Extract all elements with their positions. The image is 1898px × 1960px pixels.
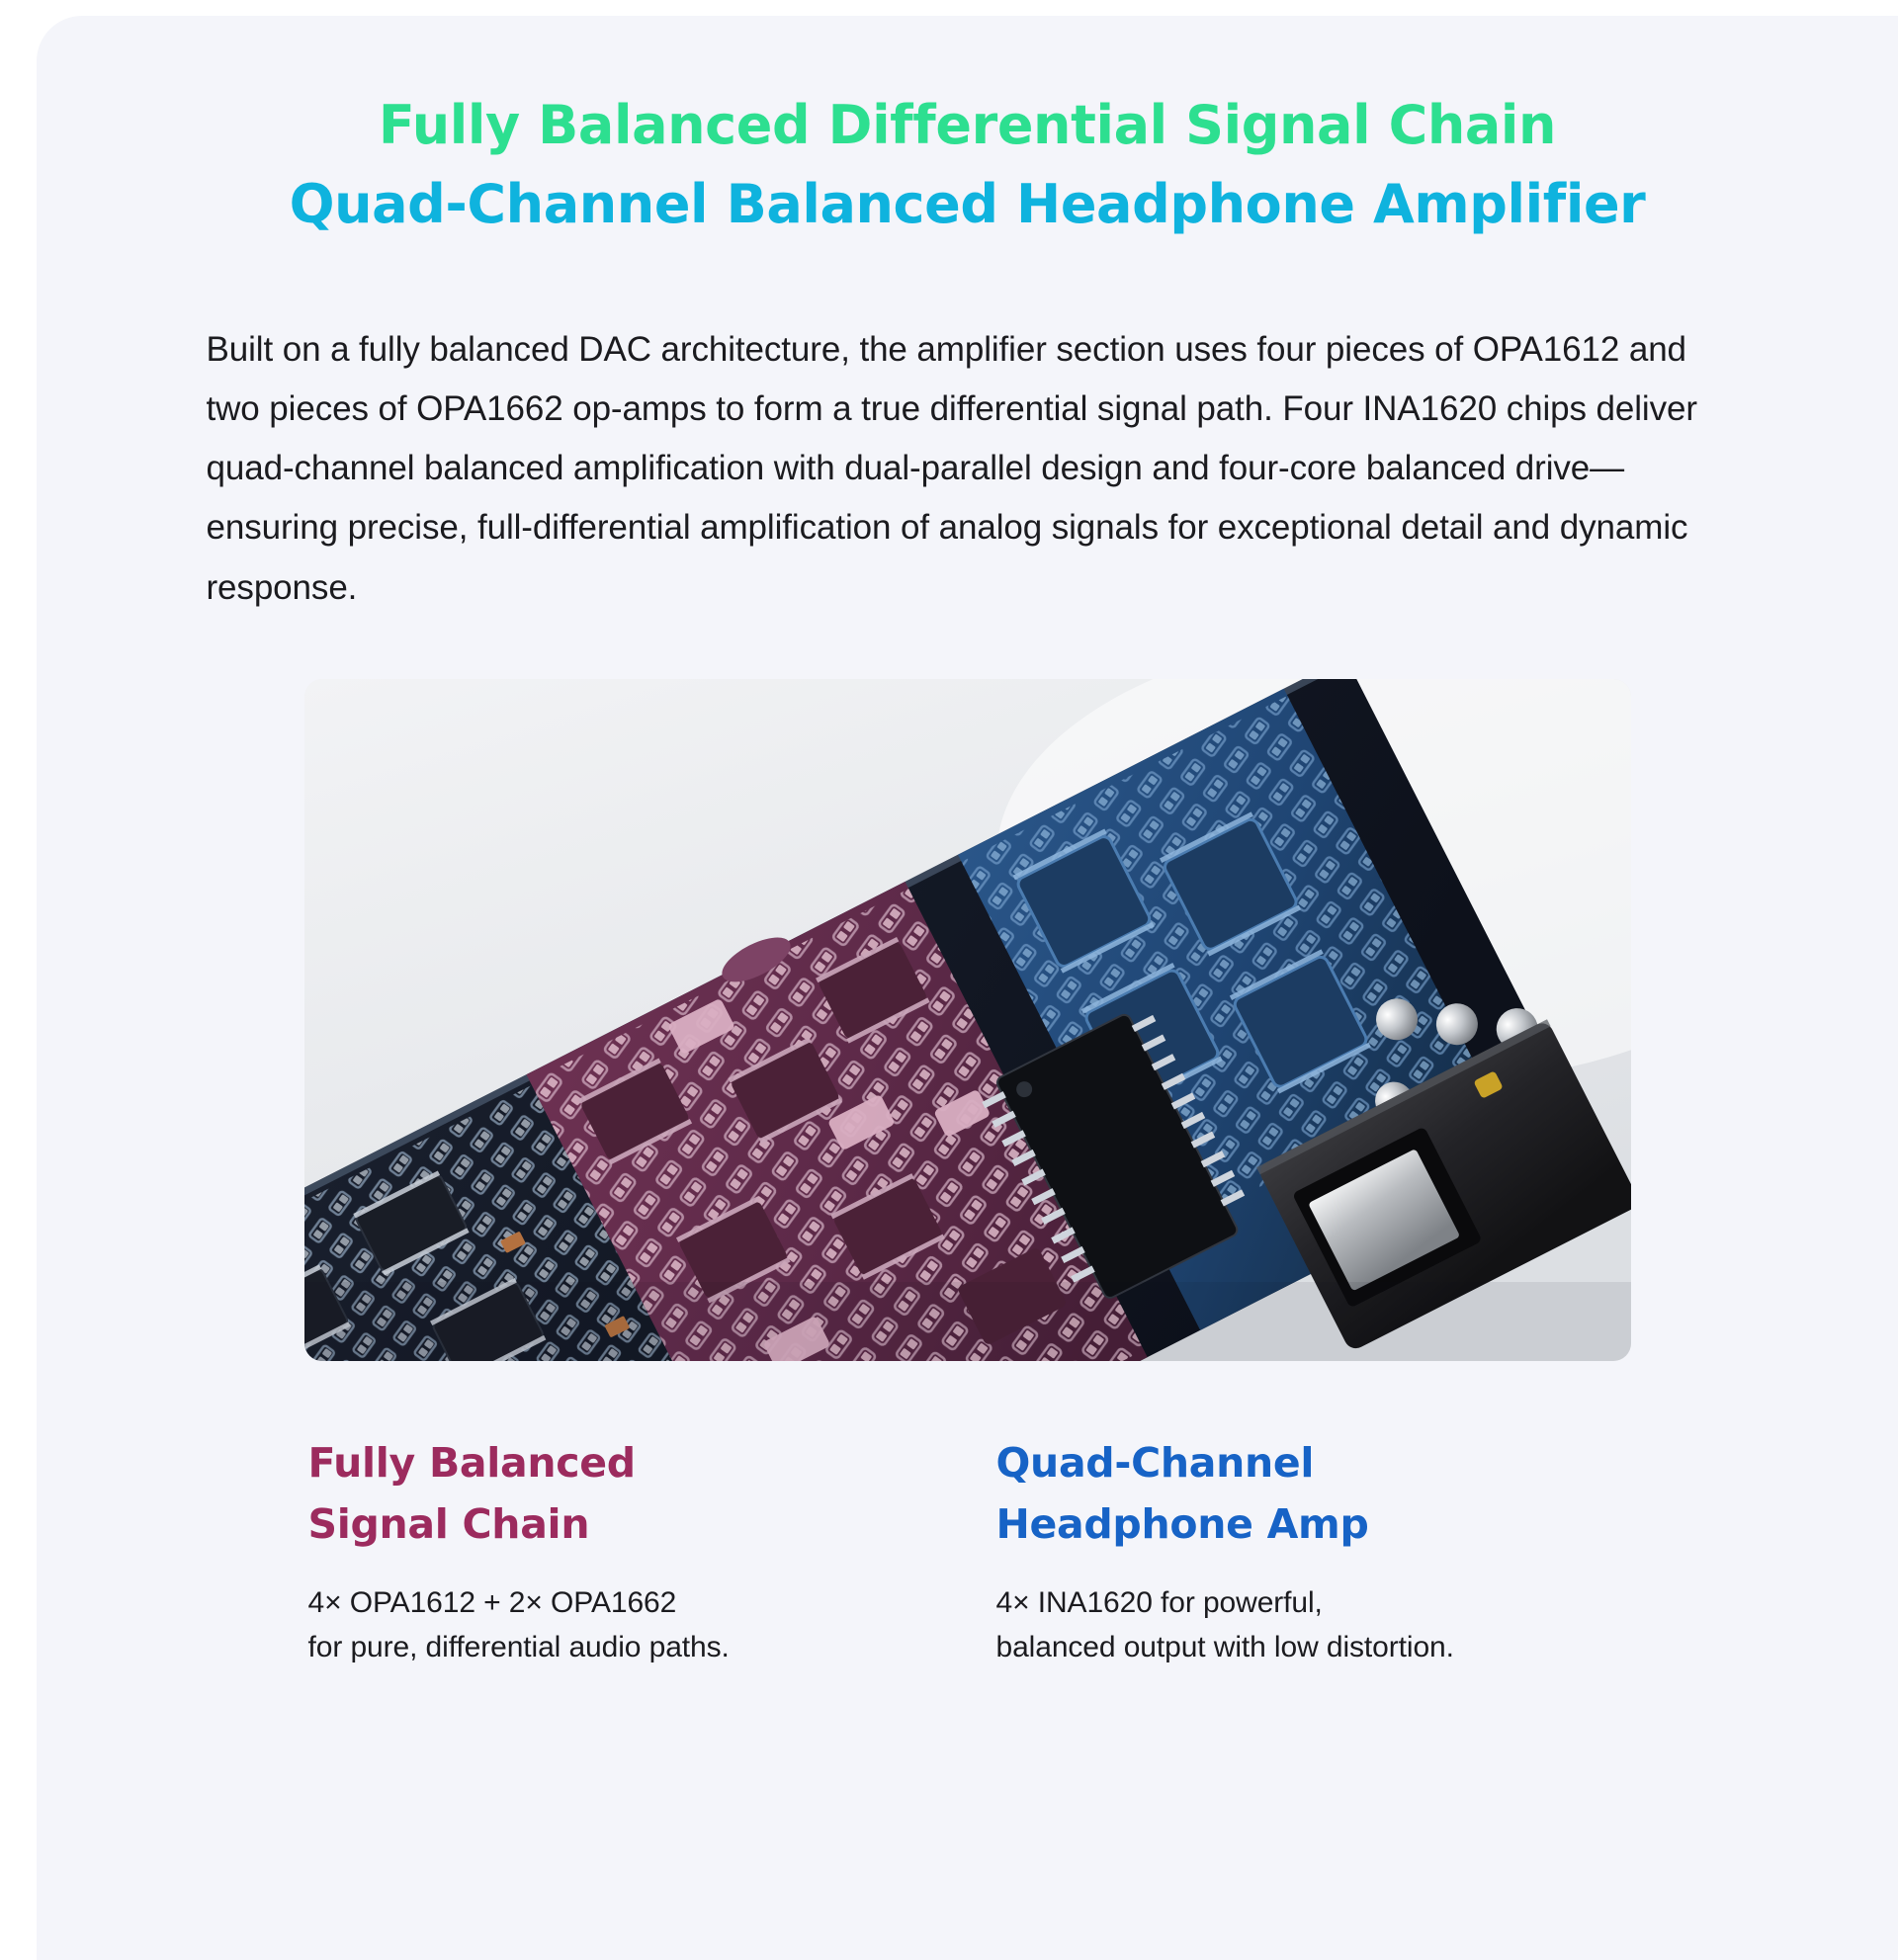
page-root: Fully Balanced Differential Signal Chain…: [0, 0, 1898, 1960]
page-title-primary: Fully Balanced Differential Signal Chain: [96, 93, 1839, 158]
feature-title-line-2: Headphone Amp: [996, 1493, 1592, 1555]
feature-item-signal-chain: Fully Balanced Signal Chain 4× OPA1612 +…: [308, 1432, 970, 1670]
feature-list: Fully Balanced Signal Chain 4× OPA1612 +…: [304, 1432, 1631, 1670]
feature-item-headphone-amp: Quad-Channel Headphone Amp 4× INA1620 fo…: [970, 1432, 1631, 1670]
feature-desc-signal-chain: 4× OPA1612 + 2× OPA1662 for pure, differ…: [308, 1580, 930, 1669]
body-paragraph: Built on a fully balanced DAC architectu…: [137, 320, 1798, 618]
feature-desc-line-1: 4× OPA1612 + 2× OPA1662: [308, 1580, 930, 1625]
feature-desc-line-2: balanced output with low distortion.: [996, 1625, 1592, 1669]
feature-title-line-1: Quad-Channel: [996, 1432, 1592, 1493]
pcb-photo: S0321: [304, 679, 1631, 1361]
feature-title-headphone-amp: Quad-Channel Headphone Amp: [996, 1432, 1592, 1556]
feature-desc-line-1: 4× INA1620 for powerful,: [996, 1580, 1592, 1625]
pcb-photo-illustration: S0321: [304, 679, 1631, 1361]
page-title-secondary: Quad-Channel Balanced Headphone Amplifie…: [96, 172, 1839, 237]
feature-desc-headphone-amp: 4× INA1620 for powerful, balanced output…: [996, 1580, 1592, 1669]
feature-card: Fully Balanced Differential Signal Chain…: [37, 16, 1898, 1960]
feature-title-line-2: Signal Chain: [308, 1493, 930, 1555]
title-block: Fully Balanced Differential Signal Chain…: [96, 16, 1839, 237]
feature-title-line-1: Fully Balanced: [308, 1432, 930, 1493]
feature-desc-line-2: for pure, differential audio paths.: [308, 1625, 930, 1669]
feature-title-signal-chain: Fully Balanced Signal Chain: [308, 1432, 930, 1556]
